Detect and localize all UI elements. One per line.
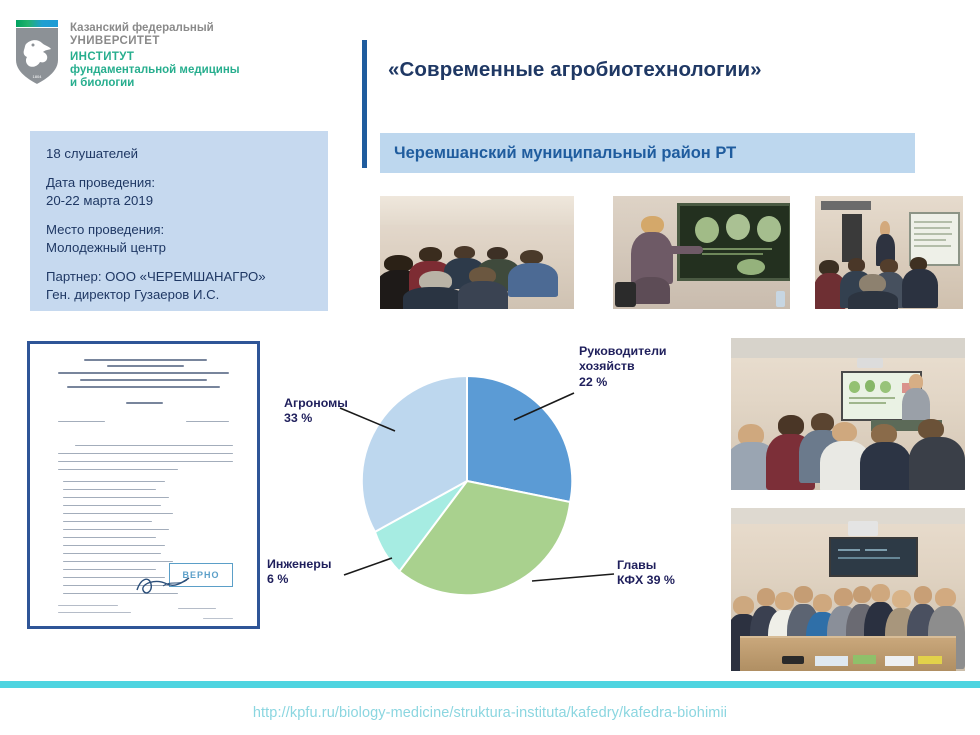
slide-root: 1804 Казанский федеральный УНИВЕРСИТЕТ И… [0,0,980,735]
footer-url[interactable]: http://kpfu.ru/biology-medicine/struktur… [0,705,980,721]
logo-line-3: ИНСТИТУТ [70,51,240,64]
logo-text-block: Казанский федеральный УНИВЕРСИТЕТ ИНСТИТ… [70,20,240,89]
shield-emblem-icon: 1804 [16,28,58,84]
event-info-panel: 18 слушателей Дата проведения: 20-22 мар… [30,131,328,311]
footer-divider [0,681,980,688]
pie-label-rukovoditeli-line1: Руководители [579,344,667,358]
photo-lecturer-at-screen [613,196,790,309]
participants-pie-chart: Руководители хозяйств 22 % Агрономы 33 %… [262,336,714,616]
pie-label-agronomy: Агрономы 33 % [284,396,348,427]
svg-text:1804: 1804 [33,74,43,79]
info-date-value: 20-22 марта 2019 [46,193,153,208]
pie-label-agronomy-line1: Агрономы [284,396,348,410]
page-title: «Современные агробиотехнологии» [388,58,908,82]
pie-label-inzhenery-line1: Инженеры [267,557,331,571]
logo-line-4: фундаментальной медицины [70,64,240,77]
photo-audience-front [380,196,574,309]
info-date-label: Дата проведения: [46,175,155,190]
logo-line-5: и биологии [70,77,240,90]
leader-line-glavy-kfh [532,574,614,581]
info-partner: Партнер: ООО «ЧЕРЕМШАНАГРО» [46,269,266,284]
pie-label-glavy-kfh-line1: Главы [617,558,656,572]
info-listeners: 18 слушателей [46,146,138,161]
info-place-value: Молодежный центр [46,240,166,255]
leader-line-inzhenery [344,558,392,575]
subtitle-text: Черемшанский муниципальный район РТ [394,144,736,163]
pie-label-inzhenery: Инженеры 6 % [267,557,331,588]
photo-group-portrait [731,508,965,671]
pie-label-agronomy-value: 33 % [284,411,312,425]
pie-label-glavy-kfh-value: КФХ 39 % [617,573,675,587]
title-accent-bar [362,40,367,168]
order-scan-content: ВЕРНО [37,350,250,620]
signature-icon [133,572,209,598]
logo-line-1: Казанский федеральный [70,22,240,35]
pie-label-inzhenery-value: 6 % [267,572,288,586]
kfu-shield-icon: 1804 [14,20,60,86]
pie-label-rukovoditeli-value: 22 % [579,375,607,389]
logo-line-2: УНИВЕРСИТЕТ [70,35,240,48]
photo-hall-wide [815,196,963,309]
logo-gradient-bar [16,20,58,27]
pie-slice-rukovoditeli [467,376,572,502]
photo-audience-presentation [731,338,965,490]
kfu-logo: 1804 Казанский федеральный УНИВЕРСИТЕТ И… [14,20,240,89]
info-place-label: Место проведения: [46,222,164,237]
info-director: Ген. директор Гузаеров И.С. [46,287,219,302]
pie-label-glavy-kfh: Главы КФХ 39 % [617,558,675,589]
order-scan: ВЕРНО [27,341,260,629]
pie-label-rukovoditeli: Руководители хозяйств 22 % [579,344,667,390]
pie-label-rukovoditeli-line2: хозяйств [579,359,635,373]
